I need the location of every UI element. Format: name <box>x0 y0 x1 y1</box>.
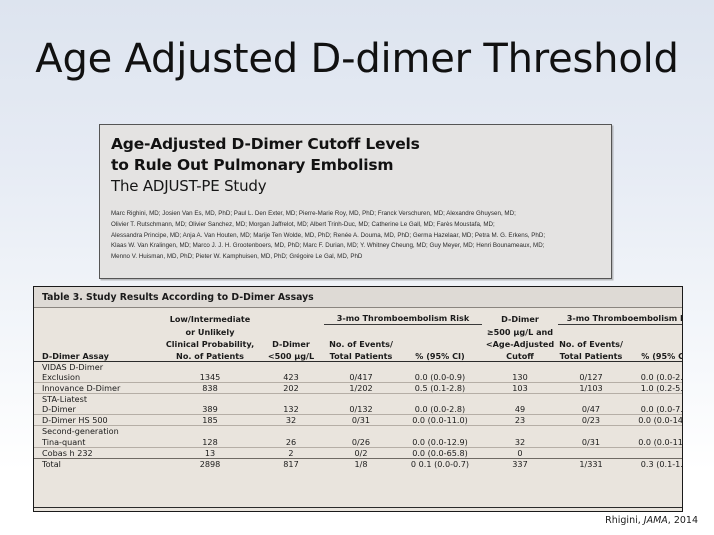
cell-low-prob: 389 <box>162 394 258 415</box>
cell-low-prob: 128 <box>162 426 258 447</box>
cell-low-prob: 13 <box>162 447 258 458</box>
table-head: Low/Intermediate 3-mo Thromboembolism Ri… <box>34 308 683 361</box>
cell-events-2: 1/331 <box>558 458 624 469</box>
table-body: VIDAS D-DimerExclusion13454230/4170.0 (0… <box>34 361 683 469</box>
table-row: D-Dimer HS 500185320/310.0 (0.0-11.0)230… <box>34 415 683 426</box>
cell-ddimer-ge: 0 <box>482 447 558 458</box>
header-spacer <box>258 325 324 337</box>
cell-pct-1: 0.0 (0.0-0.9) <box>398 361 482 382</box>
cell-low-prob: 2898 <box>162 458 258 469</box>
cell-events-2: 0/47 <box>558 394 624 415</box>
cell-events-2 <box>558 447 624 458</box>
cell-pct-1: 0.0 (0.0-11.0) <box>398 415 482 426</box>
cell-pct-2: 0.0 (0.0-11.0) <box>624 426 683 447</box>
cell-pct-1: 0 0.1 (0.0-0.7) <box>398 458 482 469</box>
cell-events-2: 1/103 <box>558 383 624 394</box>
citation-author: Rhigini, <box>605 515 644 526</box>
cell-pct-1: 0.0 (0.0-2.8) <box>398 394 482 415</box>
cell-assay: D-Dimer HS 500 <box>34 415 162 426</box>
header-pct-2: % (95% CI) <box>624 349 683 361</box>
header-spacer <box>558 325 624 337</box>
cell-events-1: 0/132 <box>324 394 398 415</box>
table-row: STA-LiatestD-Dimer3891320/1320.0 (0.0-2.… <box>34 394 683 415</box>
cell-pct-2: 0.0 (0.0-14.3) <box>624 415 683 426</box>
cell-pct-2: 0.3 (0.1-1.7) <box>624 458 683 469</box>
header-spacer <box>34 325 162 337</box>
author-list: Marc Righini, MD; Josien Van Es, MD, PhD… <box>111 209 600 262</box>
header-ddimer-ge-line4: Cutoff <box>482 349 558 361</box>
cell-pct-1: 0.0 (0.0-65.8) <box>398 447 482 458</box>
citation-year: , 2014 <box>668 515 698 526</box>
cell-ddimer-ge: 130 <box>482 361 558 382</box>
table-caption: Table 3. Study Results According to D-Di… <box>34 287 682 308</box>
cell-ddimer-lt: 817 <box>258 458 324 469</box>
cell-ddimer-ge: 337 <box>482 458 558 469</box>
cell-assay: Second-generationTina-quant <box>34 426 162 447</box>
cell-ddimer-lt: 202 <box>258 383 324 394</box>
cell-pct-2: 0.0 (0.0-7.6) <box>624 394 683 415</box>
cell-ddimer-lt: 2 <box>258 447 324 458</box>
header-group-risk-2: 3-mo Thromboembolism Risk <box>558 308 683 325</box>
header-assay: D-Dimer Assay <box>34 349 162 361</box>
cell-low-prob: 185 <box>162 415 258 426</box>
cell-assay: Cobas h 232 <box>34 447 162 458</box>
header-low-prob-line3: Clinical Probability, <box>162 337 258 349</box>
cell-events-1: 0/417 <box>324 361 398 382</box>
author-line: Menno V. Huisman, MD, PhD; Pieter W. Kam… <box>111 252 600 263</box>
article-header-box: Age-Adjusted D-Dimer Cutoff Levels to Ru… <box>99 124 612 279</box>
cell-events-2: 0/31 <box>558 426 624 447</box>
header-events-2-line2: Total Patients <box>558 349 624 361</box>
cell-ddimer-ge: 49 <box>482 394 558 415</box>
header-spacer <box>624 337 683 349</box>
table-row: Second-generationTina-quant128260/260.0 … <box>34 426 683 447</box>
cell-events-1: 0/2 <box>324 447 398 458</box>
table-row: Total28988171/80 0.1 (0.0-0.7)3371/3310.… <box>34 458 683 469</box>
cell-assay: Innovance D-Dimer <box>34 383 162 394</box>
header-spacer <box>258 308 324 325</box>
cell-ddimer-ge: 103 <box>482 383 558 394</box>
header-ddimer-ge-line1: D-Dimer <box>482 308 558 325</box>
cell-events-2: 0/23 <box>558 415 624 426</box>
cell-events-1: 0/26 <box>324 426 398 447</box>
cell-assay: STA-LiatestD-Dimer <box>34 394 162 415</box>
header-spacer <box>34 337 162 349</box>
header-pct-1: % (95% CI) <box>398 349 482 361</box>
header-low-prob-line2: or Unlikely <box>162 325 258 337</box>
cell-ddimer-lt: 26 <box>258 426 324 447</box>
results-table-panel: Table 3. Study Results According to D-Di… <box>33 286 683 512</box>
article-title-line-1: Age-Adjusted D-Dimer Cutoff Levels <box>111 134 600 155</box>
results-table: Low/Intermediate 3-mo Thromboembolism Ri… <box>34 308 683 469</box>
header-ddimer-lt-line2: <500 µg/L <box>258 349 324 361</box>
header-ddimer-lt-line1: D-Dimer <box>258 337 324 349</box>
header-spacer <box>34 308 162 325</box>
cell-pct-2 <box>624 447 683 458</box>
header-spacer <box>398 325 482 337</box>
table-header-row-3: Clinical Probability, D-Dimer No. of Eve… <box>34 337 683 349</box>
article-title-line-2: to Rule Out Pulmonary Embolism <box>111 155 600 176</box>
table-header-row-2: or Unlikely ≥500 µg/L and <box>34 325 683 337</box>
table-row: VIDAS D-DimerExclusion13454230/4170.0 (0… <box>34 361 683 382</box>
cell-ddimer-lt: 132 <box>258 394 324 415</box>
header-events-1-line2: Total Patients <box>324 349 398 361</box>
author-line: Alessandra Principe, MD; Anja A. Van Hou… <box>111 231 600 242</box>
cell-pct-1: 0.5 (0.1-2.8) <box>398 383 482 394</box>
header-spacer <box>324 325 398 337</box>
article-subtitle: The ADJUST-PE Study <box>111 176 600 196</box>
table-bottom-rule <box>34 507 682 508</box>
header-spacer <box>398 337 482 349</box>
author-line: Klaas W. Van Kralingen, MD; Marco J. J. … <box>111 241 600 252</box>
cell-assay-line-2: Tina-quant <box>42 437 85 447</box>
header-spacer <box>624 325 683 337</box>
author-line: Marc Righini, MD; Josien Van Es, MD, PhD… <box>111 209 600 220</box>
cell-assay-line-2: D-Dimer <box>42 404 76 414</box>
cell-events-1: 1/202 <box>324 383 398 394</box>
table-group-header-row: Low/Intermediate 3-mo Thromboembolism Ri… <box>34 308 683 325</box>
cell-events-2: 0/127 <box>558 361 624 382</box>
cell-ddimer-lt: 423 <box>258 361 324 382</box>
author-line: Olivier T. Rutschmann, MD; Olivier Sanch… <box>111 220 600 231</box>
table-header-row-4: D-Dimer Assay No. of Patients <500 µg/L … <box>34 349 683 361</box>
table-row: Cobas h 2321320/20.0 (0.0-65.8)0 <box>34 447 683 458</box>
header-events-2-line1: No. of Events/ <box>558 337 624 349</box>
cell-low-prob: 1345 <box>162 361 258 382</box>
header-ddimer-ge-line3: <Age-Adjusted <box>482 337 558 349</box>
cell-ddimer-ge: 32 <box>482 426 558 447</box>
cell-low-prob: 838 <box>162 383 258 394</box>
header-ddimer-ge-line2: ≥500 µg/L and <box>482 325 558 337</box>
header-group-risk-1: 3-mo Thromboembolism Risk <box>324 308 482 325</box>
cell-assay: Total <box>34 458 162 469</box>
page-title: Age Adjusted D-dimer Threshold <box>0 36 714 82</box>
source-citation: Rhigini, JAMA, 2014 <box>605 515 698 526</box>
citation-journal: JAMA <box>644 515 668 526</box>
header-low-prob-line4: No. of Patients <box>162 349 258 361</box>
cell-events-1: 1/8 <box>324 458 398 469</box>
cell-pct-2: 0.0 (0.0-2.9) <box>624 361 683 382</box>
header-events-1-line1: No. of Events/ <box>324 337 398 349</box>
cell-events-1: 0/31 <box>324 415 398 426</box>
cell-pct-1: 0.0 (0.0-12.9) <box>398 426 482 447</box>
table-row: Innovance D-Dimer8382021/2020.5 (0.1-2.8… <box>34 383 683 394</box>
cell-pct-2: 1.0 (0.2-5.3) <box>624 383 683 394</box>
cell-assay-line-2: Exclusion <box>42 372 80 382</box>
cell-ddimer-ge: 23 <box>482 415 558 426</box>
header-low-prob-line1: Low/Intermediate <box>162 308 258 325</box>
cell-ddimer-lt: 32 <box>258 415 324 426</box>
cell-assay: VIDAS D-DimerExclusion <box>34 361 162 382</box>
